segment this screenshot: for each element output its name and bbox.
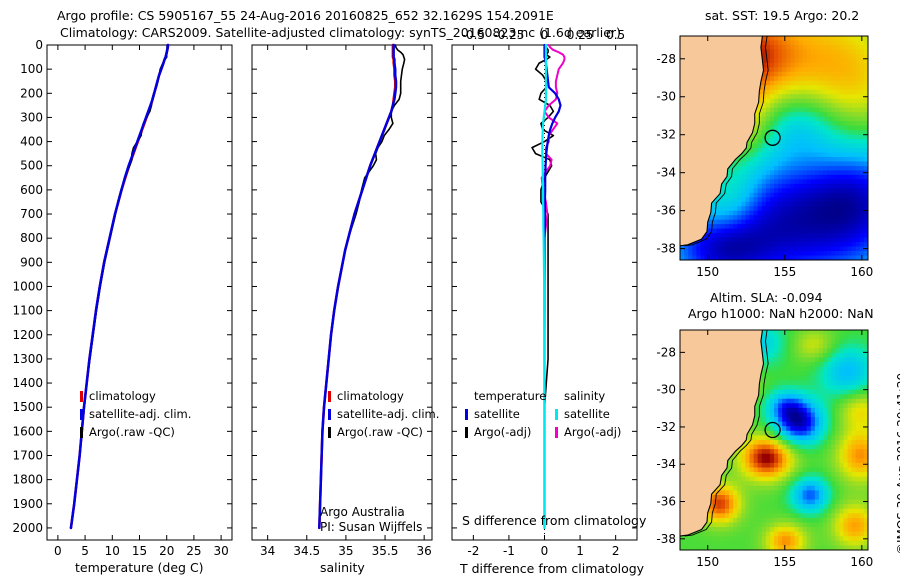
legend-swatch xyxy=(555,427,558,438)
depth-tick-label: 1700 xyxy=(12,448,43,462)
salinity-climatology-curve xyxy=(319,45,395,528)
temperature-argo-curve xyxy=(71,45,168,528)
x-tick-label: 35 xyxy=(338,544,353,558)
map-y-tick-label: -34 xyxy=(656,166,676,180)
map-y-tick-label: -36 xyxy=(656,204,676,218)
sla-map-title-line-2: Argo h1000: NaN h2000: NaN xyxy=(688,306,874,321)
x-tick-label: 1 xyxy=(576,544,584,558)
map-x-tick-label: 155 xyxy=(773,265,796,279)
map-y-tick-label: -32 xyxy=(656,420,676,434)
legend-label: satellite xyxy=(564,407,610,421)
imos-credit: ©IMOS 30-Aug-2016 20:41:20 xyxy=(895,555,900,569)
depth-tick-label: 1100 xyxy=(12,304,43,318)
legend-label: Argo(-adj) xyxy=(474,425,531,439)
x-tick-label: 35.5 xyxy=(372,544,399,558)
salinity-satellite-adj-curve xyxy=(319,45,396,528)
map-y-tick-label: -30 xyxy=(656,90,676,104)
legend-swatch xyxy=(80,409,83,420)
difference-panel: -2-1012-0.5-0.2500.250.5temperaturesalin… xyxy=(440,0,655,580)
imos-credit-text: ©IMOS 30-Aug-2016 20:41:20 xyxy=(895,373,900,555)
difference-top-tick-label: -0.25 xyxy=(493,28,524,42)
salinity-axes-frame xyxy=(252,45,432,540)
depth-tick-label: 600 xyxy=(20,183,43,197)
difference-top-axis-label: S difference from climatology xyxy=(462,513,646,528)
legend-swatch xyxy=(328,427,331,438)
sst-field xyxy=(680,36,869,261)
map-x-tick-label: 155 xyxy=(773,555,796,569)
argo-pi-credit: PI: Susan Wijffels xyxy=(320,520,422,534)
x-tick-label: -1 xyxy=(503,544,515,558)
depth-tick-label: 100 xyxy=(20,62,43,76)
depth-tick-label: 700 xyxy=(20,207,43,221)
difference-top-tick-label: 0 xyxy=(541,28,549,42)
map-y-tick-label: -32 xyxy=(656,128,676,142)
map-y-tick-label: -38 xyxy=(656,242,676,256)
x-tick-label: 0 xyxy=(541,544,549,558)
depth-tick-label: 200 xyxy=(20,86,43,100)
legend-swatch xyxy=(465,409,468,420)
difference-top-tick-label: 0.5 xyxy=(606,28,625,42)
depth-tick-label: 1200 xyxy=(12,328,43,342)
legend-swatch xyxy=(465,427,468,438)
map-x-tick-label: 150 xyxy=(696,555,719,569)
map-x-tick-label: 160 xyxy=(850,555,873,569)
salinity-panel: 3434.53535.536climatologysatellite-adj. … xyxy=(240,0,440,580)
depth-tick-label: 500 xyxy=(20,159,43,173)
depth-tick-label: 1600 xyxy=(12,424,43,438)
legend-label: satellite xyxy=(474,407,520,421)
sla-map: 150155160-28-30-32-34-36-38 xyxy=(655,322,900,580)
map-y-tick-label: -36 xyxy=(656,495,676,509)
depth-tick-label: 800 xyxy=(20,231,43,245)
difference-top-tick-label: 0.25 xyxy=(567,28,594,42)
depth-tick-label: 400 xyxy=(20,135,43,149)
map-x-tick-label: 160 xyxy=(850,265,873,279)
x-tick-label: 0 xyxy=(54,544,62,558)
sst-map-title: sat. SST: 19.5 Argo: 20.2 xyxy=(705,8,859,23)
legend-swatch xyxy=(555,409,558,420)
map-y-tick-label: -28 xyxy=(656,52,676,66)
legend-swatch xyxy=(328,409,331,420)
legend-swatch xyxy=(80,427,83,438)
depth-tick-label: 1800 xyxy=(12,473,43,487)
temperature-panel: 0100200300400500600700800900100011001200… xyxy=(0,0,240,580)
temperature-satellite-adj-curve xyxy=(71,45,168,528)
sla-map-title-line-1: Altim. SLA: -0.094 xyxy=(710,290,823,305)
x-tick-label: -2 xyxy=(467,544,479,558)
legend-label: satellite-adj. clim. xyxy=(89,407,191,421)
depth-tick-label: 1500 xyxy=(12,400,43,414)
x-tick-label: 34 xyxy=(260,544,275,558)
legend-label: Argo(.raw -QC) xyxy=(337,425,423,439)
map-x-tick-label: 150 xyxy=(696,265,719,279)
x-tick-label: 2 xyxy=(612,544,620,558)
map-y-tick-label: -34 xyxy=(656,457,676,471)
salinity-xaxis-label: salinity xyxy=(320,560,365,575)
sla-field xyxy=(680,330,869,551)
depth-tick-label: 1400 xyxy=(12,376,43,390)
temperature-axes-frame xyxy=(47,45,232,540)
legend-swatch xyxy=(80,391,83,402)
sst-map: 150155160-28-30-32-34-36-38 xyxy=(655,28,900,290)
difference-bottom-axis-label: T difference from climatology xyxy=(460,561,644,576)
argo-australia-credit: Argo Australia xyxy=(320,505,405,519)
depth-tick-label: 0 xyxy=(35,38,43,52)
legend-label: climatology xyxy=(89,389,156,403)
x-tick-label: 30 xyxy=(213,544,228,558)
x-tick-label: 36 xyxy=(417,544,432,558)
salinity-argo-curve xyxy=(319,45,404,528)
x-tick-label: 34.5 xyxy=(293,544,320,558)
x-tick-label: 10 xyxy=(105,544,120,558)
x-tick-label: 20 xyxy=(159,544,174,558)
legend-label: climatology xyxy=(337,389,404,403)
depth-tick-label: 900 xyxy=(20,255,43,269)
x-tick-label: 15 xyxy=(132,544,147,558)
map-y-tick-label: -28 xyxy=(656,345,676,359)
depth-tick-label: 1900 xyxy=(12,497,43,511)
difference-legend-salinity-header: salinity xyxy=(564,389,605,403)
legend-label: satellite-adj. clim. xyxy=(337,407,439,421)
difference-top-tick-label: -0.5 xyxy=(462,28,485,42)
temperature-xaxis-label: temperature (deg C) xyxy=(75,560,204,575)
legend-label: Argo(.raw -QC) xyxy=(89,425,175,439)
map-y-tick-label: -30 xyxy=(656,383,676,397)
x-tick-label: 25 xyxy=(186,544,201,558)
depth-tick-label: 2000 xyxy=(12,521,43,535)
legend-label: Argo(-adj) xyxy=(564,425,621,439)
x-tick-label: 5 xyxy=(81,544,89,558)
depth-tick-label: 1000 xyxy=(12,279,43,293)
temperature-climatology-curve xyxy=(71,45,168,528)
depth-tick-label: 300 xyxy=(20,110,43,124)
depth-tick-label: 1300 xyxy=(12,352,43,366)
map-y-tick-label: -38 xyxy=(656,532,676,546)
legend-swatch xyxy=(328,391,331,402)
difference-legend-temperature-header: temperature xyxy=(474,389,546,403)
